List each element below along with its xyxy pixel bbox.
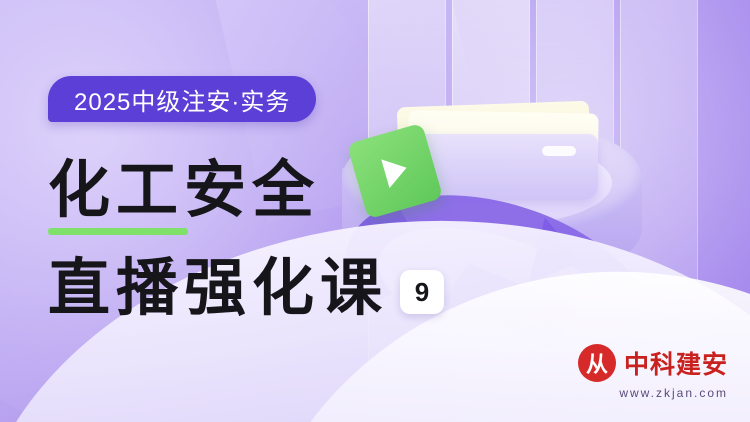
brand-mark-glyph: 从 [578, 344, 616, 382]
brand-mark-icon: 从 [578, 344, 616, 382]
brand-url: www.zkjan.com [619, 386, 728, 400]
episode-badge: 9 [400, 270, 444, 314]
brand-name: 中科建安 [624, 345, 728, 381]
banner-title-line-1: 化工安全 [48, 160, 320, 222]
course-tag: 2025中级注安·实务 [48, 76, 316, 122]
course-banner: 2025中级注安·实务 化工安全 直播强化课 9 从 中科建安 www.zkja… [0, 0, 750, 422]
play-triangle-icon [381, 153, 410, 188]
brand-logo: 从 中科建安 www.zkjan.com [578, 344, 728, 400]
title-underline [48, 228, 188, 235]
banner-title-line-2: 直播强化课 [48, 258, 388, 320]
folder-tab-icon [542, 146, 576, 156]
brand-logo-row: 从 中科建安 [578, 344, 728, 382]
